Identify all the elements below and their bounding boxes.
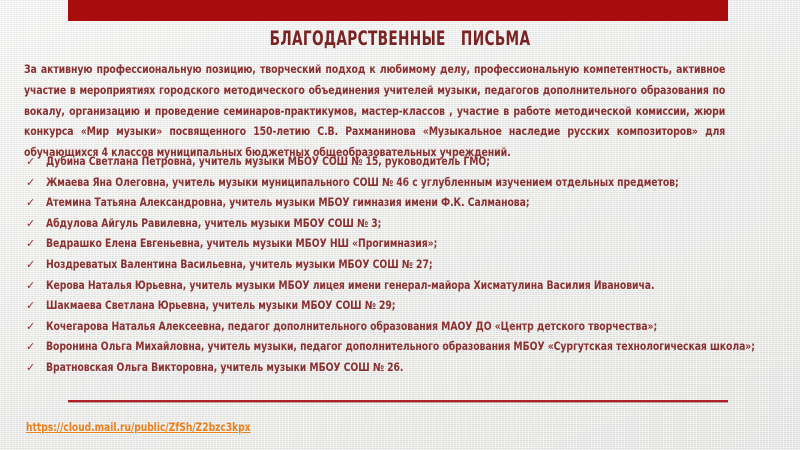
list-item-label: Кочегарова Наталья Алексеевна, педагог д… <box>46 317 736 338</box>
check-icon: ✓ <box>26 255 46 276</box>
list-item-label: Ведрашко Елена Евгеньевна, учитель музык… <box>46 234 736 255</box>
list-item: ✓Атемина Татьяна Александровна, учитель … <box>26 193 796 214</box>
cloud-link[interactable]: https://cloud.mail.ru/public/ZfSh/Z2bzc3… <box>26 420 251 435</box>
list-item: ✓Жмаева Яна Олеговна, учитель музыки мун… <box>26 173 796 194</box>
check-icon: ✓ <box>26 234 46 255</box>
list-item-label: Керова Наталья Юрьевна, учитель музыки М… <box>46 276 736 297</box>
check-icon: ✓ <box>26 296 46 317</box>
horizontal-divider <box>68 400 728 402</box>
list-item: ✓Дубина Светлана Петровна, учитель музык… <box>26 152 796 173</box>
list-item-label: Воронина Ольга Михайловна, учитель музык… <box>46 337 755 358</box>
list-item: ✓Абдулова Айгуль Равилевна, учитель музы… <box>26 214 796 235</box>
list-item: ✓Воронина Ольга Михайловна, учитель музы… <box>26 337 796 358</box>
list-item-label: Атемина Татьяна Александровна, учитель м… <box>46 193 736 214</box>
check-icon: ✓ <box>26 193 46 214</box>
list-item-label: Дубина Светлана Петровна, учитель музыки… <box>46 152 736 173</box>
list-item: ✓Ведрашко Елена Евгеньевна, учитель музы… <box>26 234 796 255</box>
list-item: ✓Керова Наталья Юрьевна, учитель музыки … <box>26 276 796 297</box>
list-item-label: Шакмаева Светлана Юрьевна, учитель музык… <box>46 296 736 317</box>
check-icon: ✓ <box>26 317 46 338</box>
list-item-label: Абдулова Айгуль Равилевна, учитель музык… <box>46 214 736 235</box>
check-icon: ✓ <box>26 173 46 194</box>
page-title: БЛАГОДАРСТВЕННЫЕ ПИСЬМА <box>88 28 712 50</box>
list-item-label: Ноздреватых Валентина Васильевна, учител… <box>46 255 736 276</box>
list-item: ✓Кочегарова Наталья Алексеевна, педагог … <box>26 317 796 338</box>
check-icon: ✓ <box>26 358 46 379</box>
check-icon: ✓ <box>26 276 46 297</box>
list-item: ✓Вратновская Ольга Викторовна, учитель м… <box>26 358 796 379</box>
list-item: ✓Шакмаева Светлана Юрьевна, учитель музы… <box>26 296 796 317</box>
top-red-banner <box>68 0 728 21</box>
check-icon: ✓ <box>26 152 46 173</box>
list-item-label: Вратновская Ольга Викторовна, учитель му… <box>46 358 736 379</box>
check-icon: ✓ <box>26 214 46 235</box>
recipients-list: ✓Дубина Светлана Петровна, учитель музык… <box>26 152 796 379</box>
check-icon: ✓ <box>26 337 46 358</box>
intro-paragraph: За активную профессиональную позицию, тв… <box>24 60 725 164</box>
list-item: ✓Ноздреватых Валентина Васильевна, учите… <box>26 255 796 276</box>
list-item-label: Жмаева Яна Олеговна, учитель музыки муни… <box>46 173 736 194</box>
slide-canvas: БЛАГОДАРСТВЕННЫЕ ПИСЬМА За активную проф… <box>0 0 800 450</box>
